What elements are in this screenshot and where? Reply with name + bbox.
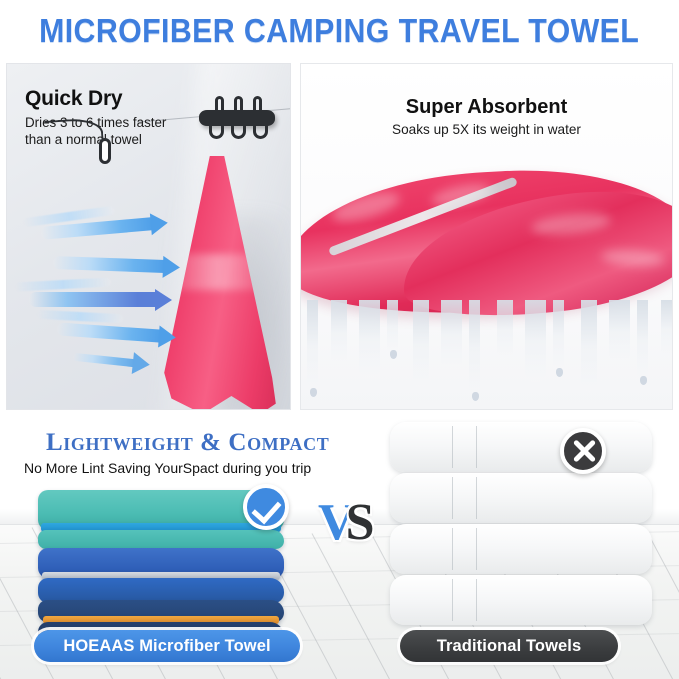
water-drip xyxy=(307,300,318,392)
towel-seam xyxy=(452,579,453,621)
airflow-arrow-icon xyxy=(57,322,162,342)
hook xyxy=(231,122,246,139)
water-bead xyxy=(310,388,317,397)
white-towel-layer xyxy=(390,422,652,472)
water-drip xyxy=(497,300,513,360)
super-absorbent-subtitle: Soaks up 5X its weight in water xyxy=(301,122,672,137)
lightweight-heading: Lightweight & Compact xyxy=(46,429,329,457)
towel-seam xyxy=(476,528,477,570)
water-drip xyxy=(553,300,564,372)
microfiber-towel-stack xyxy=(38,490,284,632)
water-drip xyxy=(581,300,597,392)
water-drip xyxy=(469,300,480,396)
water-bead xyxy=(556,368,563,377)
towel-seam xyxy=(476,426,477,468)
hook xyxy=(209,122,224,139)
water-drip xyxy=(331,300,347,366)
check-circle-icon xyxy=(243,484,289,530)
airflow-arrow-icon xyxy=(29,292,157,307)
towel-seam xyxy=(452,477,453,519)
lightweight-subtitle: No More Lint Saving YourSpact during you… xyxy=(24,460,311,476)
airflow-arrow-icon xyxy=(53,256,165,273)
towel-layer xyxy=(38,530,284,549)
towel-seam xyxy=(452,528,453,570)
quick-dry-heading: Quick Dry xyxy=(25,87,122,111)
water-bead xyxy=(390,350,397,359)
towel-seam xyxy=(476,579,477,621)
infographic-page: MICROFIBER CAMPING TRAVEL TOWEL Quick Dr… xyxy=(0,0,679,679)
floor-plank-line xyxy=(648,533,679,679)
super-absorbent-heading: Super Absorbent xyxy=(301,96,672,119)
airflow-wisp xyxy=(37,310,123,323)
water-drip xyxy=(359,300,380,378)
versus-marker: VS xyxy=(318,497,374,549)
x-circle-icon xyxy=(560,428,606,474)
floor-plank-line xyxy=(0,527,10,679)
title-bar: MICROFIBER CAMPING TRAVEL TOWEL xyxy=(0,0,679,62)
water-drip xyxy=(413,300,429,388)
water-drip xyxy=(525,300,546,382)
towel-seam xyxy=(452,426,453,468)
white-towel-layer xyxy=(390,575,652,625)
panel-super-absorbent: Super Absorbent Soaks up 5X its weight i… xyxy=(300,63,673,410)
airflow-arrows xyxy=(11,204,191,374)
water-drip xyxy=(609,300,630,364)
water-drip xyxy=(387,300,398,354)
water-drip xyxy=(637,300,648,380)
water-drip xyxy=(441,300,462,370)
water-bead xyxy=(640,376,647,385)
water-bead xyxy=(472,392,479,401)
page-title: MICROFIBER CAMPING TRAVEL TOWEL xyxy=(39,12,639,50)
water-drip xyxy=(661,300,673,358)
white-towel-layer xyxy=(390,473,652,523)
towel-seam xyxy=(476,477,477,519)
panel-quick-dry: Quick Dry Dries 3 to 6 times faster than… xyxy=(6,63,291,410)
versus-s: S xyxy=(346,494,375,551)
airflow-wisp xyxy=(15,277,111,291)
water-drips xyxy=(301,300,673,410)
competitor-label-badge: Traditional Towels xyxy=(400,630,618,662)
traditional-towel-stack xyxy=(390,422,652,628)
wall-hook-rack-icon xyxy=(193,88,285,150)
white-towel-layer xyxy=(390,524,652,574)
carabiner-clip-icon xyxy=(99,138,111,164)
airflow-arrow-icon xyxy=(73,353,135,367)
hook xyxy=(253,122,268,139)
product-label-badge: HOEAAS Microfiber Towel xyxy=(34,630,300,662)
